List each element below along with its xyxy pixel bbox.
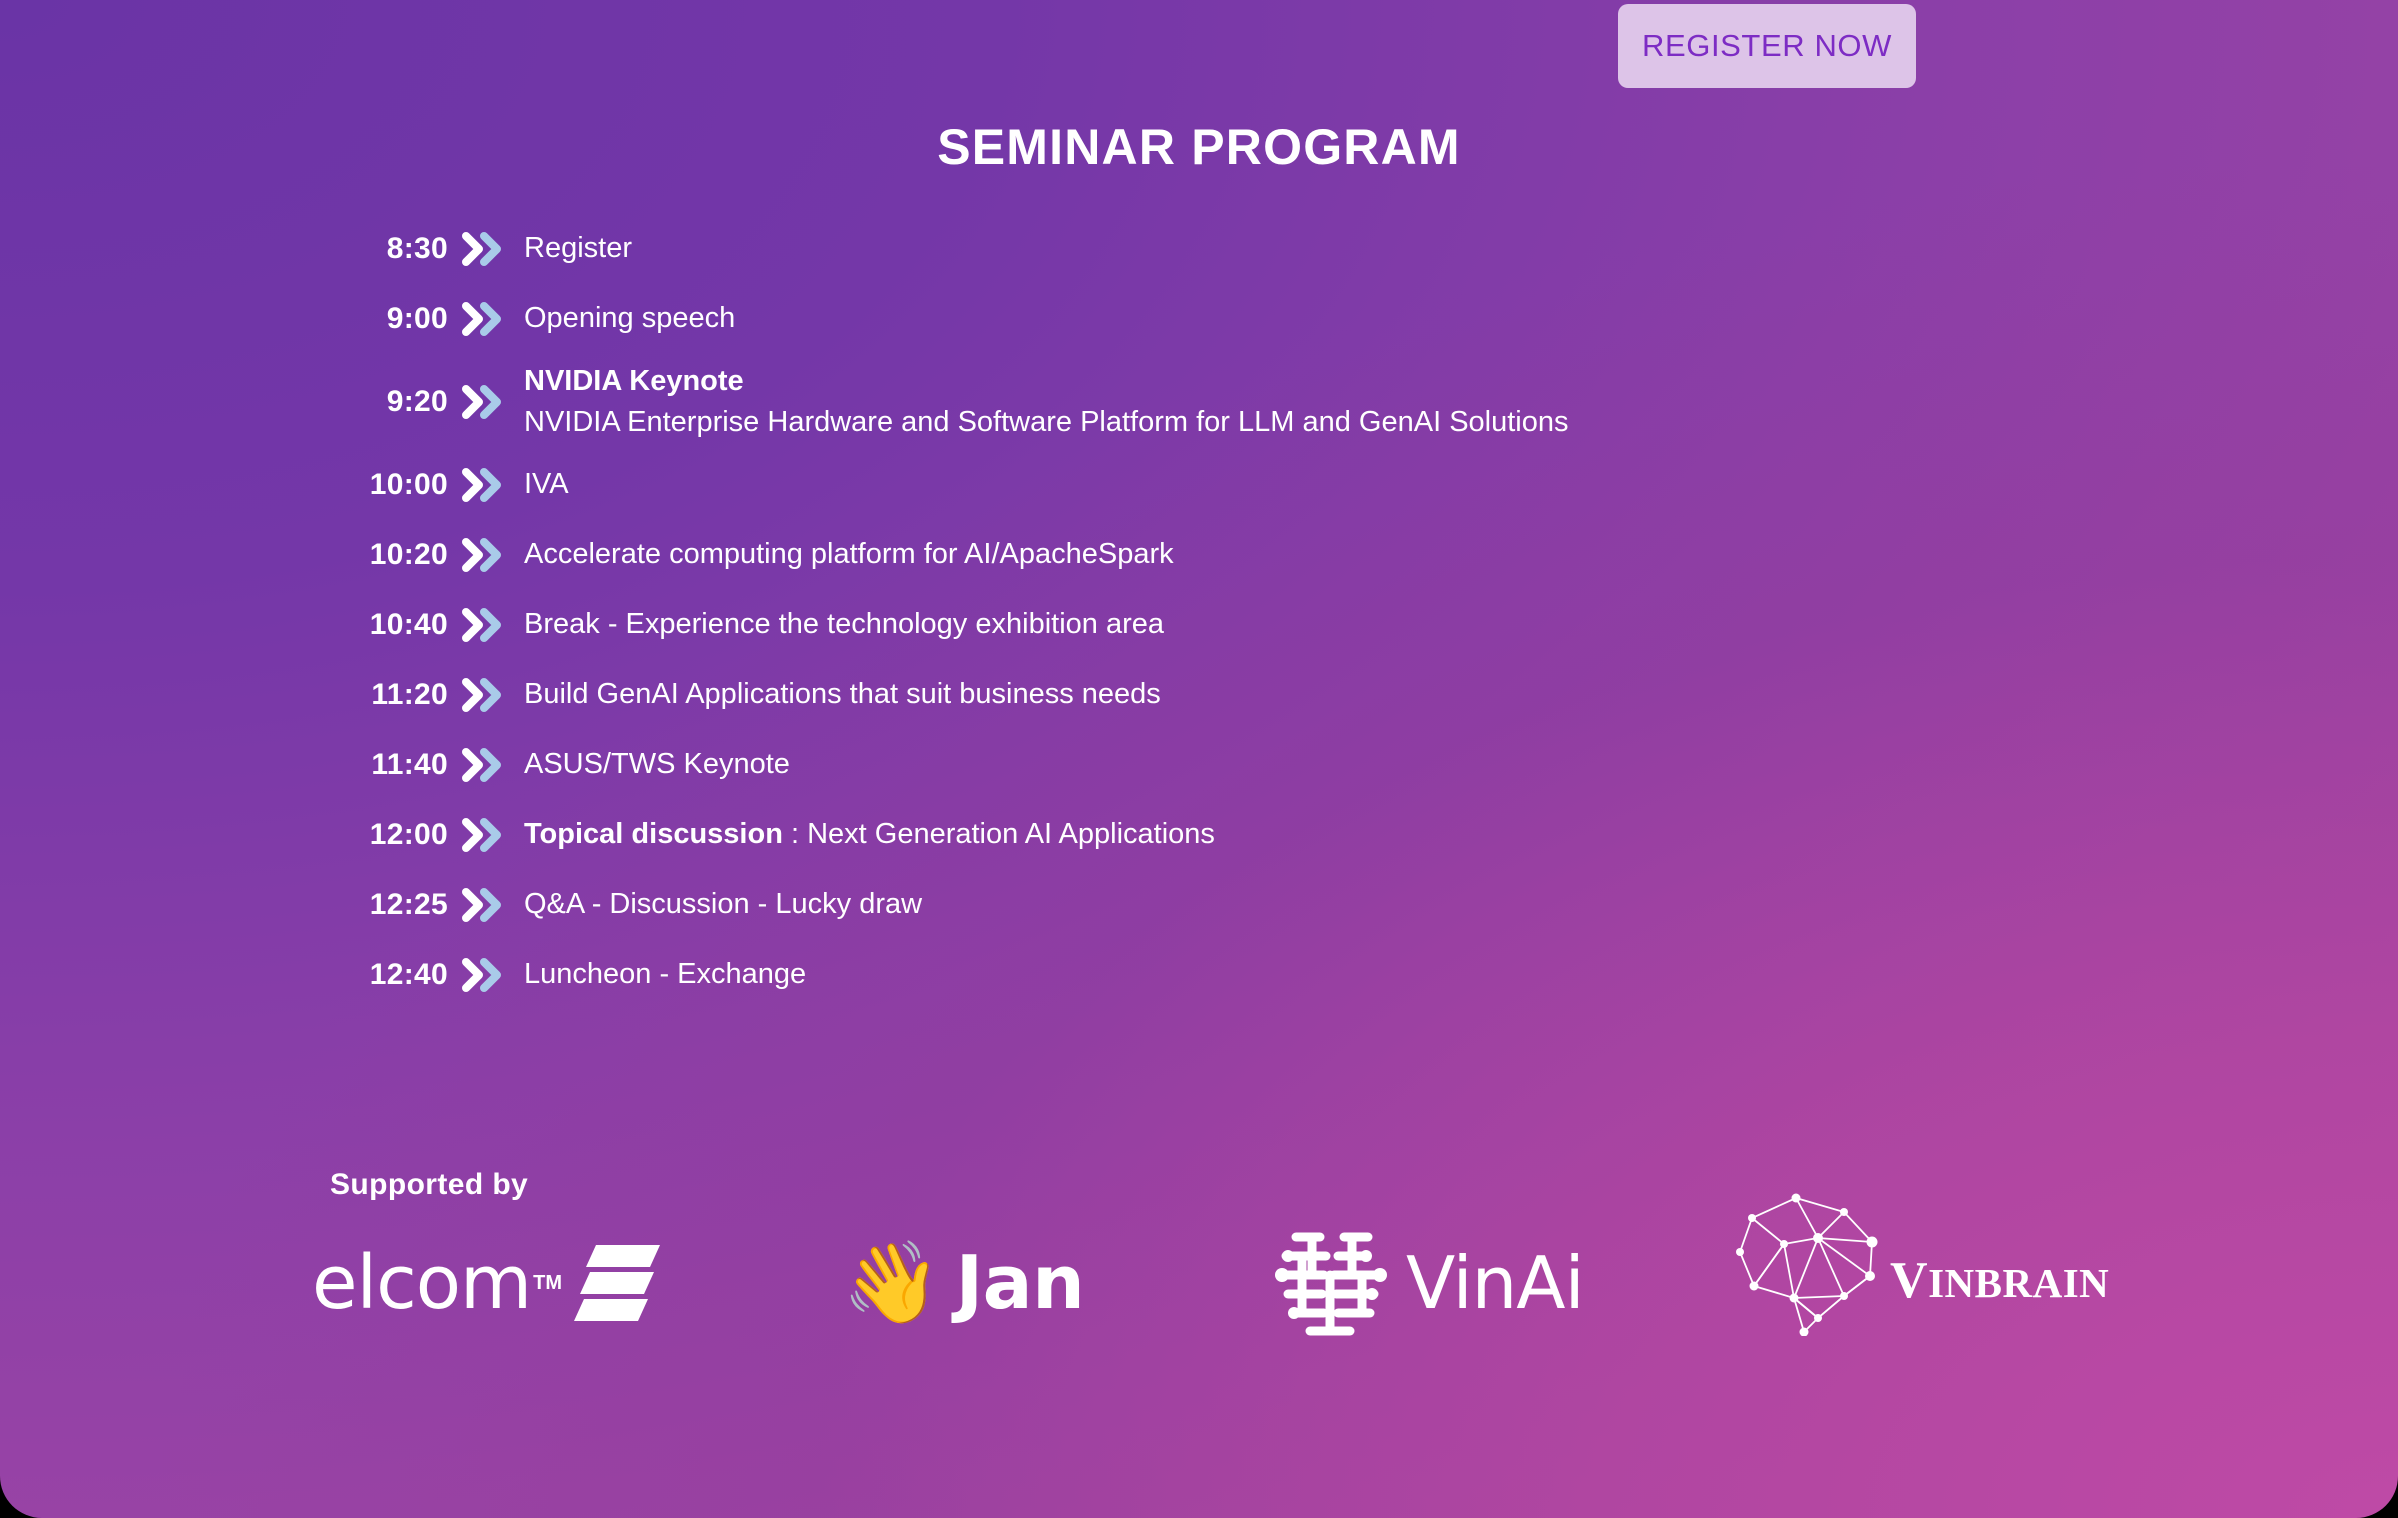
schedule-text: ASUS/TWS Keynote: [518, 744, 2230, 785]
double-chevron-icon: [448, 302, 518, 336]
schedule-text: Q&A - Discussion - Lucky draw: [518, 884, 2230, 925]
schedule-time: 12:00: [330, 818, 448, 852]
vinai-circuit-mark-icon: [1272, 1223, 1392, 1344]
schedule-text-rest: : Next Generation AI Applications: [783, 818, 1215, 850]
schedule-row: 9:00Opening speech: [330, 284, 2230, 354]
schedule-text: IVA: [518, 464, 2230, 505]
schedule-text: Break - Experience the technology exhibi…: [518, 604, 2230, 645]
schedule-time: 12:40: [330, 958, 448, 992]
sponsor-logos: elcom TM 👋 Jan: [312, 1218, 2112, 1348]
double-chevron-icon: [448, 748, 518, 782]
register-now-button[interactable]: REGISTER NOW: [1618, 4, 1916, 88]
schedule-time: 11:40: [330, 748, 448, 782]
schedule-time: 9:20: [330, 385, 448, 419]
double-chevron-icon: [448, 958, 518, 992]
schedule-time: 12:25: [330, 888, 448, 922]
schedule-text: Accelerate computing platform for AI/Apa…: [518, 534, 2230, 575]
double-chevron-icon: [448, 385, 518, 419]
logo-jan[interactable]: 👋 Jan: [842, 1218, 1084, 1348]
schedule-row: 12:00Topical discussion : Next Generatio…: [330, 800, 2230, 870]
schedule-time: 11:20: [330, 678, 448, 712]
schedule-text-bold: Topical discussion: [524, 818, 783, 850]
schedule-row: 11:40ASUS/TWS Keynote: [330, 730, 2230, 800]
logo-vinai[interactable]: VinAi: [1272, 1218, 1584, 1348]
vinai-wordmark: VinAi: [1406, 1241, 1584, 1325]
schedule-row: 10:00IVA: [330, 450, 2230, 520]
schedule-row: 10:40Break - Experience the technology e…: [330, 590, 2230, 660]
logo-elcom[interactable]: elcom TM: [312, 1218, 660, 1348]
schedule-row: 12:40Luncheon - Exchange: [330, 940, 2230, 1010]
schedule-time: 10:40: [330, 608, 448, 642]
seminar-program-slide: REGISTER NOW SEMINAR PROGRAM 8:30Registe…: [0, 0, 2398, 1518]
trademark-icon: TM: [533, 1272, 562, 1295]
schedule-row: 8:30Register: [330, 214, 2230, 284]
schedule-text-subtitle: NVIDIA Enterprise Hardware and Software …: [524, 402, 2230, 443]
waving-hand-icon: 👋: [842, 1243, 942, 1323]
double-chevron-icon: [448, 888, 518, 922]
jan-wordmark: Jan: [956, 1240, 1085, 1326]
elcom-wordmark: elcom: [312, 1240, 531, 1326]
schedule-text: Register: [518, 228, 2230, 269]
schedule-time: 9:00: [330, 302, 448, 336]
schedule-row: 11:20Build GenAI Applications that suit …: [330, 660, 2230, 730]
vinbrain-wordmark: VINBRAIN: [1890, 1251, 2109, 1310]
double-chevron-icon: [448, 468, 518, 502]
double-chevron-icon: [448, 678, 518, 712]
schedule-text: Topical discussion : Next Generation AI …: [518, 814, 2230, 855]
double-chevron-icon: [448, 538, 518, 572]
schedule-row: 10:20Accelerate computing platform for A…: [330, 520, 2230, 590]
double-chevron-icon: [448, 818, 518, 852]
double-chevron-icon: [448, 608, 518, 642]
schedule-row: 9:20NVIDIA KeynoteNVIDIA Enterprise Hard…: [330, 354, 2230, 450]
schedule-text: Opening speech: [518, 298, 2230, 339]
supported-by-label: Supported by: [330, 1168, 528, 1202]
brain-network-icon: [1722, 1186, 1902, 1341]
schedule-text: Build GenAI Applications that suit busin…: [518, 674, 2230, 715]
schedule-time: 10:20: [330, 538, 448, 572]
elcom-e-mark-icon: [574, 1241, 660, 1326]
schedule-text: NVIDIA KeynoteNVIDIA Enterprise Hardware…: [518, 361, 2230, 443]
double-chevron-icon: [448, 232, 518, 266]
schedule-text: Luncheon - Exchange: [518, 954, 2230, 995]
schedule-time: 8:30: [330, 232, 448, 266]
page-title: SEMINAR PROGRAM: [0, 118, 2398, 176]
schedule-time: 10:00: [330, 468, 448, 502]
seminar-schedule-list: 8:30Register9:00Opening speech9:20NVIDIA…: [330, 214, 2230, 1010]
schedule-text-title: NVIDIA Keynote: [524, 361, 2230, 402]
schedule-row: 12:25Q&A - Discussion - Lucky draw: [330, 870, 2230, 940]
logo-vinbrain[interactable]: VINBRAIN: [1722, 1198, 2109, 1328]
